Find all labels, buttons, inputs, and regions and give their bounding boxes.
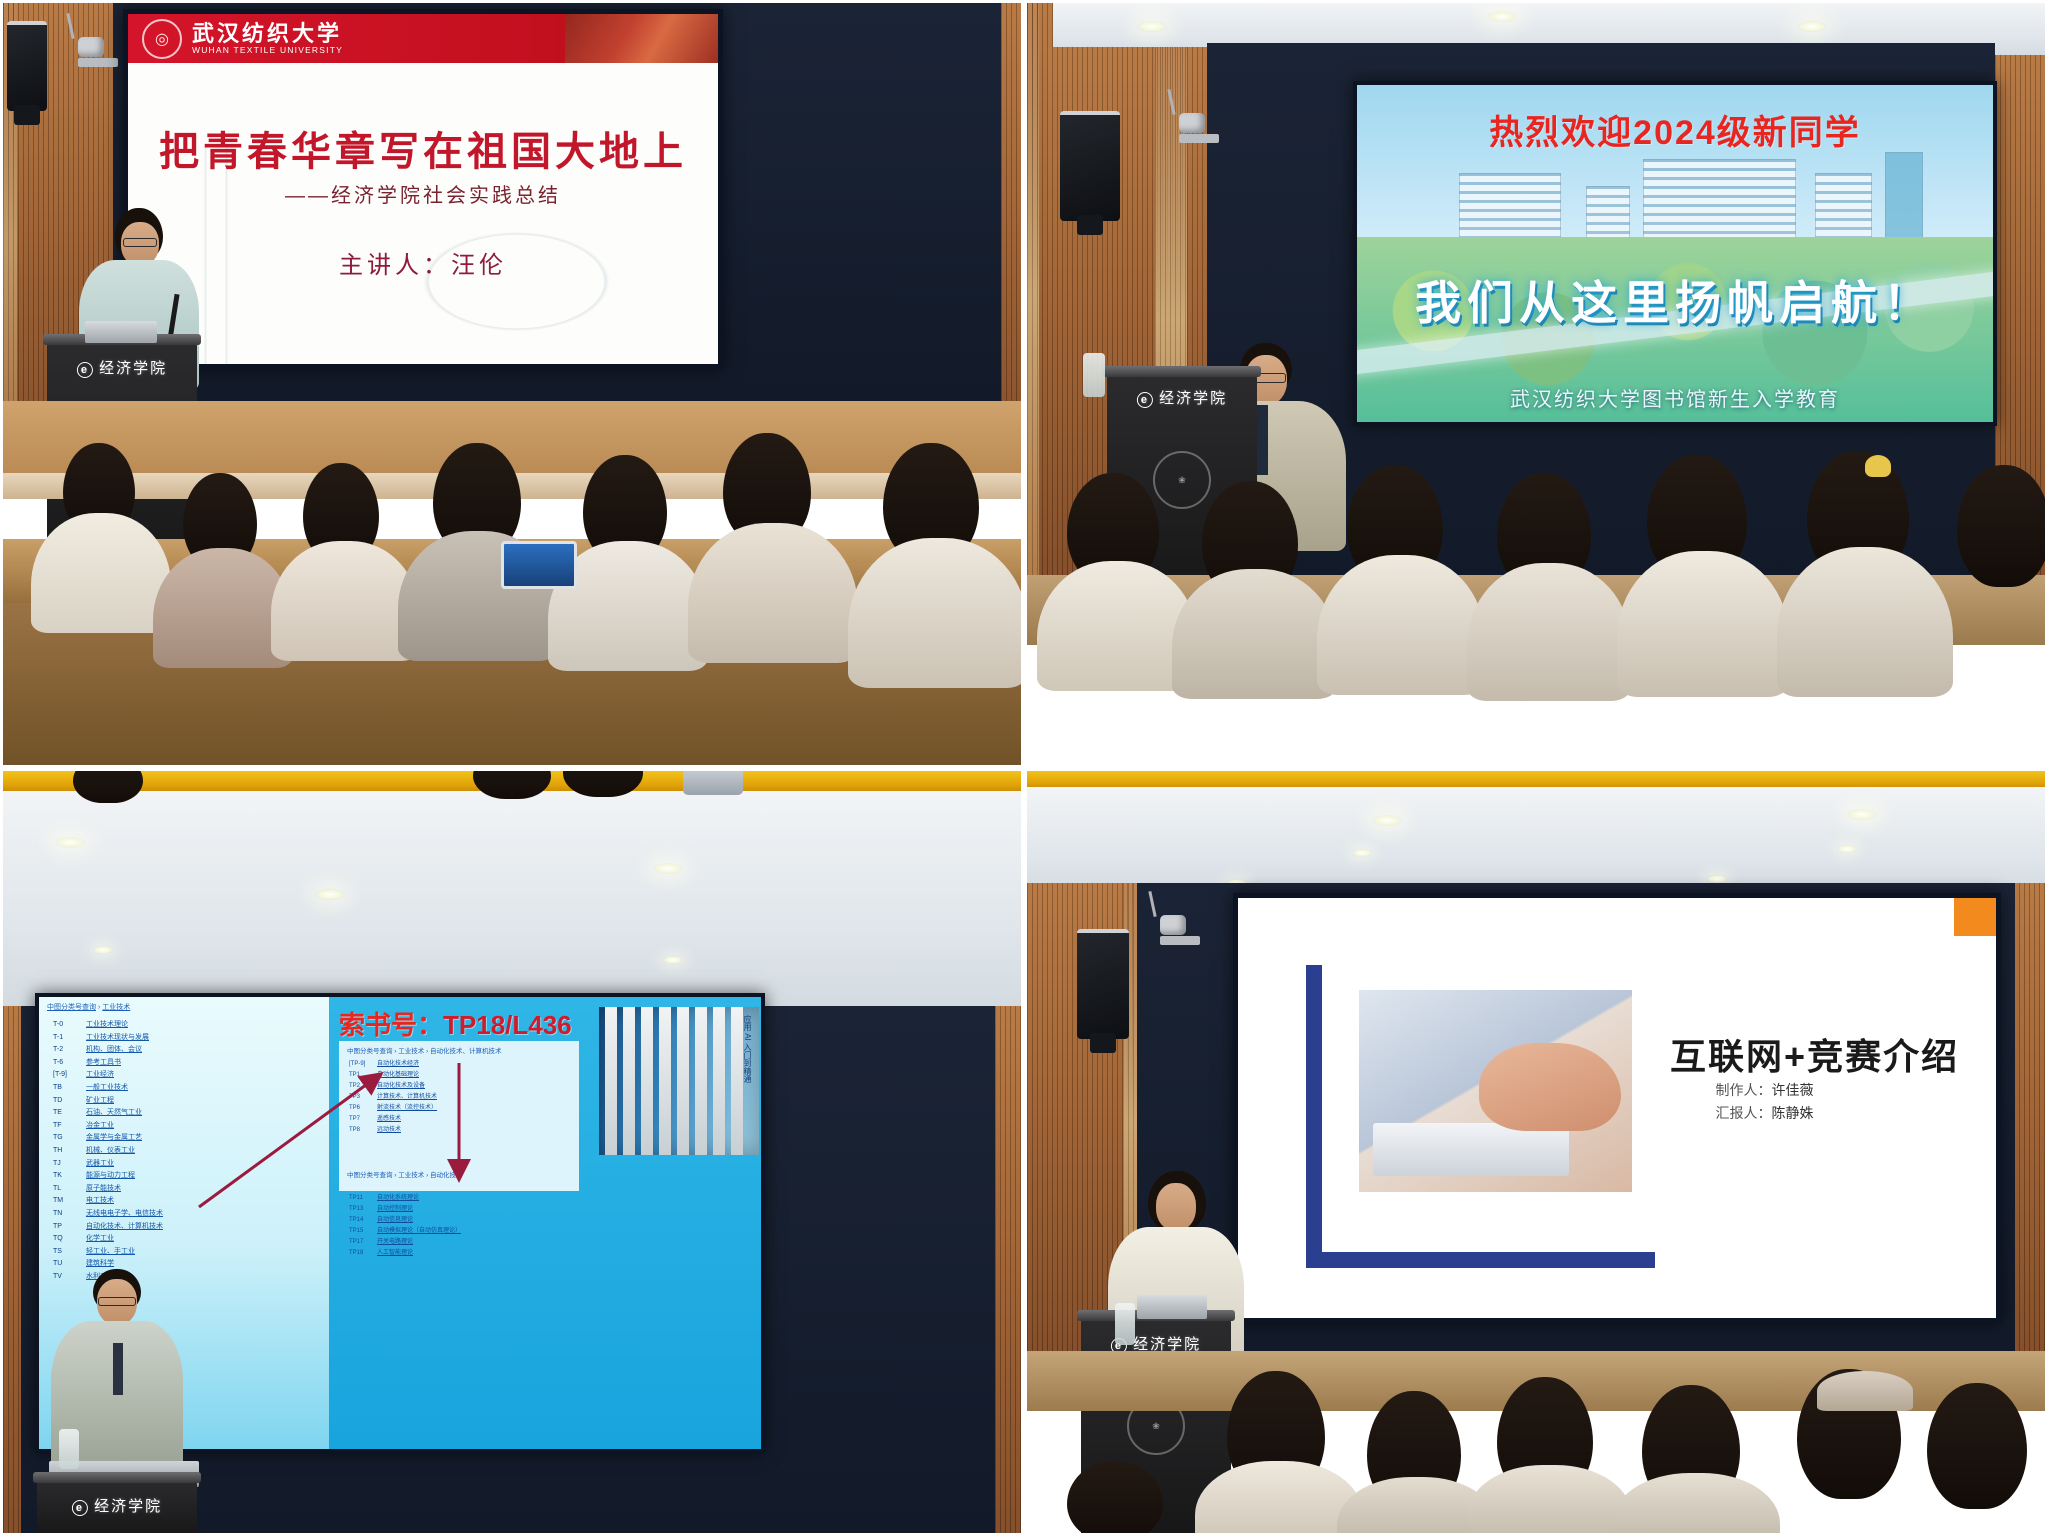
- classification-label[interactable]: 一般工业技术: [86, 1082, 128, 1095]
- downlight-icon: [663, 956, 683, 964]
- wood-wall-left-edge: [1027, 3, 1039, 593]
- classification-code: TJ: [53, 1158, 79, 1171]
- student-phone: [683, 768, 743, 795]
- slide-subtitle: ——经济学院社会实践总结: [128, 179, 718, 208]
- wood-wall-left: [3, 1006, 21, 1536]
- slide-caption: 武汉纺织大学图书馆新生入学教育: [1357, 383, 1993, 412]
- classification-row[interactable]: TD矿业工程: [53, 1095, 163, 1108]
- classification-label[interactable]: 金属学与金属工艺: [86, 1132, 142, 1145]
- audience-torso: [1467, 1465, 1632, 1536]
- downlight-icon: [93, 946, 113, 954]
- classification-row[interactable]: TL原子能技术: [53, 1183, 163, 1196]
- credit-presenter: 汇报人：陈静姝: [1716, 1102, 1814, 1125]
- classification-code: TP: [53, 1221, 79, 1234]
- downlight-icon: [315, 889, 345, 900]
- classification-label[interactable]: 无线电电子学、电信技术: [86, 1208, 163, 1221]
- downlight-icon: [1707, 875, 1727, 883]
- audience-torso: [31, 513, 171, 633]
- projection-screen-frame: ◎ 武汉纺织大学 WUHAN TEXTILE UNIVERSITY 把青春华章写…: [123, 9, 723, 369]
- hair-clip: [1865, 455, 1891, 477]
- classification-label[interactable]: 工业经济: [86, 1069, 114, 1082]
- breadcrumb-leaf[interactable]: 工业技术: [102, 1004, 130, 1011]
- downlight-icon: [55, 837, 85, 848]
- water-bottle: [59, 1429, 79, 1469]
- lectern-top: [33, 1472, 201, 1483]
- slide-speaker: 主讲人：汪伦: [128, 245, 718, 280]
- panel-bottom-left: 中图分类号查询 › 工业技术 T-0工业技术理论T-1工业技术现状与发展T-2机…: [0, 768, 1024, 1536]
- downlight-icon: [1847, 809, 1877, 820]
- classification-code: TP15: [349, 1226, 371, 1237]
- call-number-value: TP18/L436: [443, 1010, 572, 1040]
- ptz-camera-icon: [1179, 113, 1219, 143]
- bookshelf-photo: 应用 AI 入门到精通: [599, 1007, 759, 1155]
- projection-screen-frame: 热烈欢迎2024级新同学 我们从这里扬帆启航！ 武汉纺织大学图书馆新生入学教育: [1353, 81, 1997, 426]
- classification-row[interactable]: TK能源与动力工程: [53, 1170, 163, 1183]
- university-name-cn: 武汉纺织大学: [192, 22, 343, 45]
- sun-hat: [1817, 1371, 1913, 1411]
- classification-code: TQ: [53, 1233, 79, 1246]
- classification-label[interactable]: 参考工具书: [86, 1057, 121, 1070]
- lectern: e 经济学院: [37, 1481, 197, 1536]
- audience-head: [1927, 1383, 2027, 1509]
- classification-code: T-1: [53, 1032, 79, 1045]
- lectern-label: e 经济学院: [77, 357, 167, 378]
- credit-producer: 制作人：许佳薇: [1716, 1079, 1814, 1102]
- classification-code: TS: [53, 1246, 79, 1259]
- classification-label[interactable]: 自动模拟理论（自动仿真理论）: [377, 1226, 461, 1237]
- call-number-heading: 索书号：TP18/L436: [339, 1005, 572, 1042]
- wood-wall-right: [995, 1006, 1021, 1536]
- audience-torso: [1617, 551, 1789, 697]
- slide-photo-typing: [1359, 990, 1632, 1192]
- laptop: [1137, 1295, 1207, 1319]
- classification-row[interactable]: TJ武器工业: [53, 1158, 163, 1171]
- audience-torso: [1317, 555, 1485, 695]
- panel-top-right: 热烈欢迎2024级新同学 我们从这里扬帆启航！ 武汉纺织大学图书馆新生入学教育 …: [1024, 0, 2048, 768]
- classification-label[interactable]: 石油、天然气工业: [86, 1107, 142, 1120]
- breadcrumb-root[interactable]: 中图分类号查询: [47, 1004, 96, 1011]
- slide-youth-chapter: ◎ 武汉纺织大学 WUHAN TEXTILE UNIVERSITY 把青春华章写…: [128, 14, 718, 364]
- classification-row[interactable]: TF冶金工业: [53, 1120, 163, 1133]
- lanyard: [113, 1343, 123, 1395]
- audience-torso: [1172, 569, 1337, 699]
- audience-head: [1067, 1461, 1163, 1536]
- wall-speaker-icon: [1060, 111, 1120, 221]
- classification-code: TB: [53, 1082, 79, 1095]
- classification-label[interactable]: 冶金工业: [86, 1120, 114, 1133]
- pointer-arrow-icon: [189, 1067, 389, 1217]
- classification-row[interactable]: TP自动化技术、计算机技术: [53, 1221, 163, 1234]
- classification-label[interactable]: 自动化技术、计算机技术: [86, 1221, 163, 1234]
- classification-code: TN: [53, 1208, 79, 1221]
- classification-row[interactable]: TS轻工业、手工业: [53, 1246, 163, 1259]
- lectern-label: e 经济学院: [72, 1495, 162, 1516]
- down-arrow-icon: [439, 1059, 479, 1189]
- classification-row[interactable]: TH机械、仪表工业: [53, 1145, 163, 1158]
- projection-screen: 热烈欢迎2024级新同学 我们从这里扬帆启航！ 武汉纺织大学图书馆新生入学教育: [1357, 85, 1993, 422]
- slide-title: 互联网+竞赛介绍: [1670, 1028, 1959, 1080]
- keyboard-graphic: [1373, 1123, 1569, 1175]
- ptz-camera-icon: [1160, 915, 1200, 945]
- projection-screen: 互联网+竞赛介绍 制作人：许佳薇 汇报人：陈静姝: [1238, 898, 1996, 1318]
- breadcrumb-left: 中图分类号查询 › 工业技术: [47, 1002, 130, 1012]
- classification-row[interactable]: TP15自动模拟理论（自动仿真理论）: [349, 1226, 461, 1237]
- lectern-top: [1103, 366, 1261, 377]
- laptop: [85, 321, 157, 343]
- slide-welcome-text: 热烈欢迎2024级新同学: [1357, 105, 1993, 154]
- slide-library-orientation: 热烈欢迎2024级新同学 我们从这里扬帆启航！ 武汉纺织大学图书馆新生入学教育: [1357, 85, 1993, 422]
- classification-code: TK: [53, 1170, 79, 1183]
- classification-code: TE: [53, 1107, 79, 1120]
- classification-code: TF: [53, 1120, 79, 1133]
- university-name-en: WUHAN TEXTILE UNIVERSITY: [192, 46, 343, 55]
- water-bottle: [1083, 353, 1105, 397]
- classification-label[interactable]: 化学工业: [86, 1233, 114, 1246]
- classification-row[interactable]: T-0工业技术理论: [53, 1019, 163, 1032]
- classification-row[interactable]: TQ化学工业: [53, 1233, 163, 1246]
- wall-speaker-icon: [7, 21, 47, 111]
- downlight-icon: [1797, 21, 1827, 32]
- audience-torso: [1467, 563, 1631, 701]
- classification-label[interactable]: 武器工业: [86, 1158, 114, 1171]
- classification-code: TL: [53, 1183, 79, 1196]
- classification-row[interactable]: TM电工技术: [53, 1195, 163, 1208]
- panel-top-left: ◎ 武汉纺织大学 WUHAN TEXTILE UNIVERSITY 把青春华章写…: [0, 0, 1024, 768]
- downlight-icon: [1487, 11, 1517, 22]
- downlight-icon: [1372, 815, 1402, 826]
- classification-row[interactable]: T-1工业技术现状与发展: [53, 1032, 163, 1045]
- downlight-icon: [1137, 21, 1167, 32]
- photo-collage: ◎ 武汉纺织大学 WUHAN TEXTILE UNIVERSITY 把青春华章写…: [0, 0, 2048, 1536]
- lectern-label: e 经济学院: [1137, 387, 1227, 408]
- downlight-icon: [653, 863, 683, 874]
- classification-code: TD: [53, 1095, 79, 1108]
- classification-label[interactable]: 工业技术理论: [86, 1019, 128, 1032]
- classification-label[interactable]: 工业技术现状与发展: [86, 1032, 149, 1045]
- classification-label[interactable]: 机械、仪表工业: [86, 1145, 135, 1158]
- classification-row[interactable]: TP18人工智能理论: [349, 1248, 461, 1259]
- classification-code: T-2: [53, 1044, 79, 1057]
- classification-row[interactable]: TN无线电电子学、电信技术: [53, 1208, 163, 1221]
- audience-torso: [271, 541, 419, 661]
- wall-speaker-icon: [1077, 929, 1129, 1039]
- classification-code: TM: [53, 1195, 79, 1208]
- audience-head: [1957, 465, 2048, 587]
- book-spine-text: 应用 AI 入门到精通: [603, 1015, 753, 1085]
- classification-row[interactable]: TB一般工业技术: [53, 1082, 163, 1095]
- classification-code: [T-9]: [53, 1069, 79, 1082]
- panel-bottom-right: 互联网+竞赛介绍 制作人：许佳薇 汇报人：陈静姝: [1024, 768, 2048, 1536]
- classification-row[interactable]: TP17开关电路理论: [349, 1237, 461, 1248]
- university-name-block: 武汉纺织大学 WUHAN TEXTILE UNIVERSITY: [192, 22, 343, 54]
- presenter-face: [1156, 1183, 1196, 1231]
- slide-banner: ◎ 武汉纺织大学 WUHAN TEXTILE UNIVERSITY: [128, 14, 718, 63]
- classification-code: TH: [53, 1145, 79, 1158]
- classification-row[interactable]: T-2机构、团体、会议: [53, 1044, 163, 1057]
- water-bottle: [1115, 1303, 1135, 1345]
- downlight-icon: [1837, 845, 1857, 853]
- school-e-logo-icon: e: [1137, 392, 1153, 408]
- audience-torso: [848, 538, 1024, 688]
- classification-code: T-6: [53, 1057, 79, 1070]
- breadcrumb-sep: ›: [98, 1004, 100, 1011]
- slide-headline: 我们从这里扬帆启航！: [1357, 267, 1993, 333]
- slide-title: 把青春华章写在祖国大地上: [128, 119, 718, 177]
- classification-label[interactable]: 电工技术: [86, 1195, 114, 1208]
- classification-code: TG: [53, 1132, 79, 1145]
- hand-graphic: [1479, 1043, 1621, 1132]
- glasses-icon: [123, 238, 157, 247]
- audience-head: [73, 768, 143, 803]
- classification-code: T-0: [53, 1019, 79, 1032]
- school-e-logo-icon: e: [77, 362, 93, 378]
- school-e-logo-icon: e: [72, 1500, 88, 1516]
- audience-torso: [1612, 1473, 1780, 1536]
- classification-row[interactable]: T-6参考工具书: [53, 1057, 163, 1070]
- breadcrumb-right-top[interactable]: 中图分类号查询 › 工业技术 › 自动化技术、计算机技术: [347, 1045, 502, 1055]
- classification-label[interactable]: 机构、团体、会议: [86, 1044, 142, 1057]
- classification-label[interactable]: 原子能技术: [86, 1183, 121, 1196]
- classification-label[interactable]: 开关电路理论: [377, 1237, 413, 1248]
- slide-accent-block: [1954, 898, 1996, 936]
- classification-label[interactable]: 人工智能理论: [377, 1248, 413, 1259]
- classification-label[interactable]: 矿业工程: [86, 1095, 114, 1108]
- student-tablet: [501, 541, 577, 589]
- downlight-icon: [1352, 849, 1372, 857]
- projection-screen-frame: 互联网+竞赛介绍 制作人：许佳薇 汇报人：陈静姝: [1233, 893, 2001, 1323]
- classification-list-left: T-0工业技术理论T-1工业技术现状与发展T-2机构、团体、会议T-6参考工具书…: [53, 1019, 163, 1283]
- classification-code: TP17: [349, 1237, 371, 1248]
- classification-label[interactable]: 能源与动力工程: [86, 1170, 135, 1183]
- classification-row[interactable]: TG金属学与金属工艺: [53, 1132, 163, 1145]
- audience-torso: [688, 523, 858, 663]
- classification-label[interactable]: 轻工业、手工业: [86, 1246, 135, 1259]
- classification-row[interactable]: TE石油、天然气工业: [53, 1107, 163, 1120]
- ptz-camera-icon: [78, 37, 118, 67]
- university-seal-icon: ◎: [142, 19, 182, 59]
- glasses-icon: [98, 1297, 136, 1306]
- slide-internet-plus: 互联网+竞赛介绍 制作人：许佳薇 汇报人：陈静姝: [1238, 898, 1996, 1318]
- lectern-seal-icon: ❀: [1153, 451, 1211, 509]
- classification-code: TP18: [349, 1248, 371, 1259]
- call-number-label: 索书号：: [339, 1010, 443, 1040]
- classification-row[interactable]: [T-9]工业经济: [53, 1069, 163, 1082]
- slide-credits: 制作人：许佳薇 汇报人：陈静姝: [1716, 1079, 1814, 1125]
- banner-campus-photo: [565, 14, 718, 63]
- projection-screen: ◎ 武汉纺织大学 WUHAN TEXTILE UNIVERSITY 把青春华章写…: [128, 14, 718, 364]
